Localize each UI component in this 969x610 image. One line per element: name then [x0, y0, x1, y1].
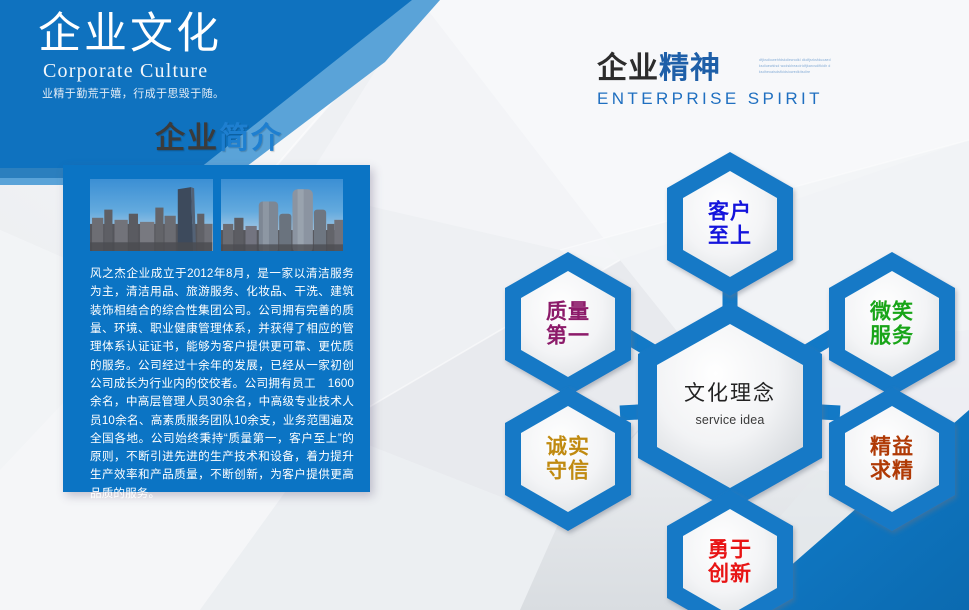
hex-center-label: 文化理念 service idea — [684, 377, 776, 427]
hex-center-label-en: service idea — [684, 413, 776, 427]
photo-strip — [90, 179, 343, 251]
banner-motto: 业精于勤荒于嬉，行成于思毁于随。 — [42, 85, 224, 101]
company-intro-text: 风之杰企业成立于2012年8月，是一家以清洁服务为主，清洁用品、旅游服务、化妆品… — [90, 265, 354, 503]
spirit-heading-block: 企业精神 ENTERPRISE SPIRIT dfjksdiowehfdskdi… — [597, 52, 827, 109]
city-skyline-photo-left — [90, 179, 213, 251]
hex-node-brave-innovate[interactable] — [667, 490, 793, 610]
spirit-decorative-text: dfjksdiowehfdskdiewodkl dkdfjsrksfduoaed… — [759, 58, 831, 84]
hex-diagram-svg — [490, 110, 969, 610]
skyline-left — [90, 179, 213, 251]
culture-hex-diagram: 客户 至上 质量 第一 微笑 服务 诚实 守信 精益 求精 勇于 创新 文化理念… — [490, 110, 969, 610]
hex-node-smile-service[interactable] — [829, 252, 955, 396]
poster-canvas: 企业文化 Corporate Culture 业精于勤荒于嬉，行成于思毁于随。 … — [0, 0, 969, 610]
intro-heading-dark: 企业 — [155, 122, 219, 155]
intro-heading-blue: 简介 — [219, 122, 283, 155]
skyline-right — [221, 179, 344, 251]
hex-node-honesty-trust[interactable] — [505, 387, 631, 531]
banner-corporate-culture: 企业文化 Corporate Culture 业精于勤荒于嬉，行成于思毁于随。 — [0, 0, 470, 185]
spirit-title-blue: 精神 — [659, 52, 721, 85]
banner-title-cn: 企业文化 — [38, 12, 222, 57]
city-skyline-photo-right — [221, 179, 344, 251]
intro-heading: 企业简介 — [155, 113, 283, 157]
banner-title-en: Corporate Culture — [43, 60, 208, 83]
hex-node-customer-first[interactable] — [667, 152, 793, 296]
hex-node-excellence[interactable] — [829, 387, 955, 531]
spirit-title-dark: 企业 — [597, 52, 659, 85]
hex-center-label-cn: 文化理念 — [684, 377, 776, 407]
spirit-subtitle-en: ENTERPRISE SPIRIT — [597, 89, 827, 109]
hex-node-quality-first[interactable] — [505, 252, 631, 396]
company-intro-card: 风之杰企业成立于2012年8月，是一家以清洁服务为主，清洁用品、旅游服务、化妆品… — [63, 165, 370, 492]
